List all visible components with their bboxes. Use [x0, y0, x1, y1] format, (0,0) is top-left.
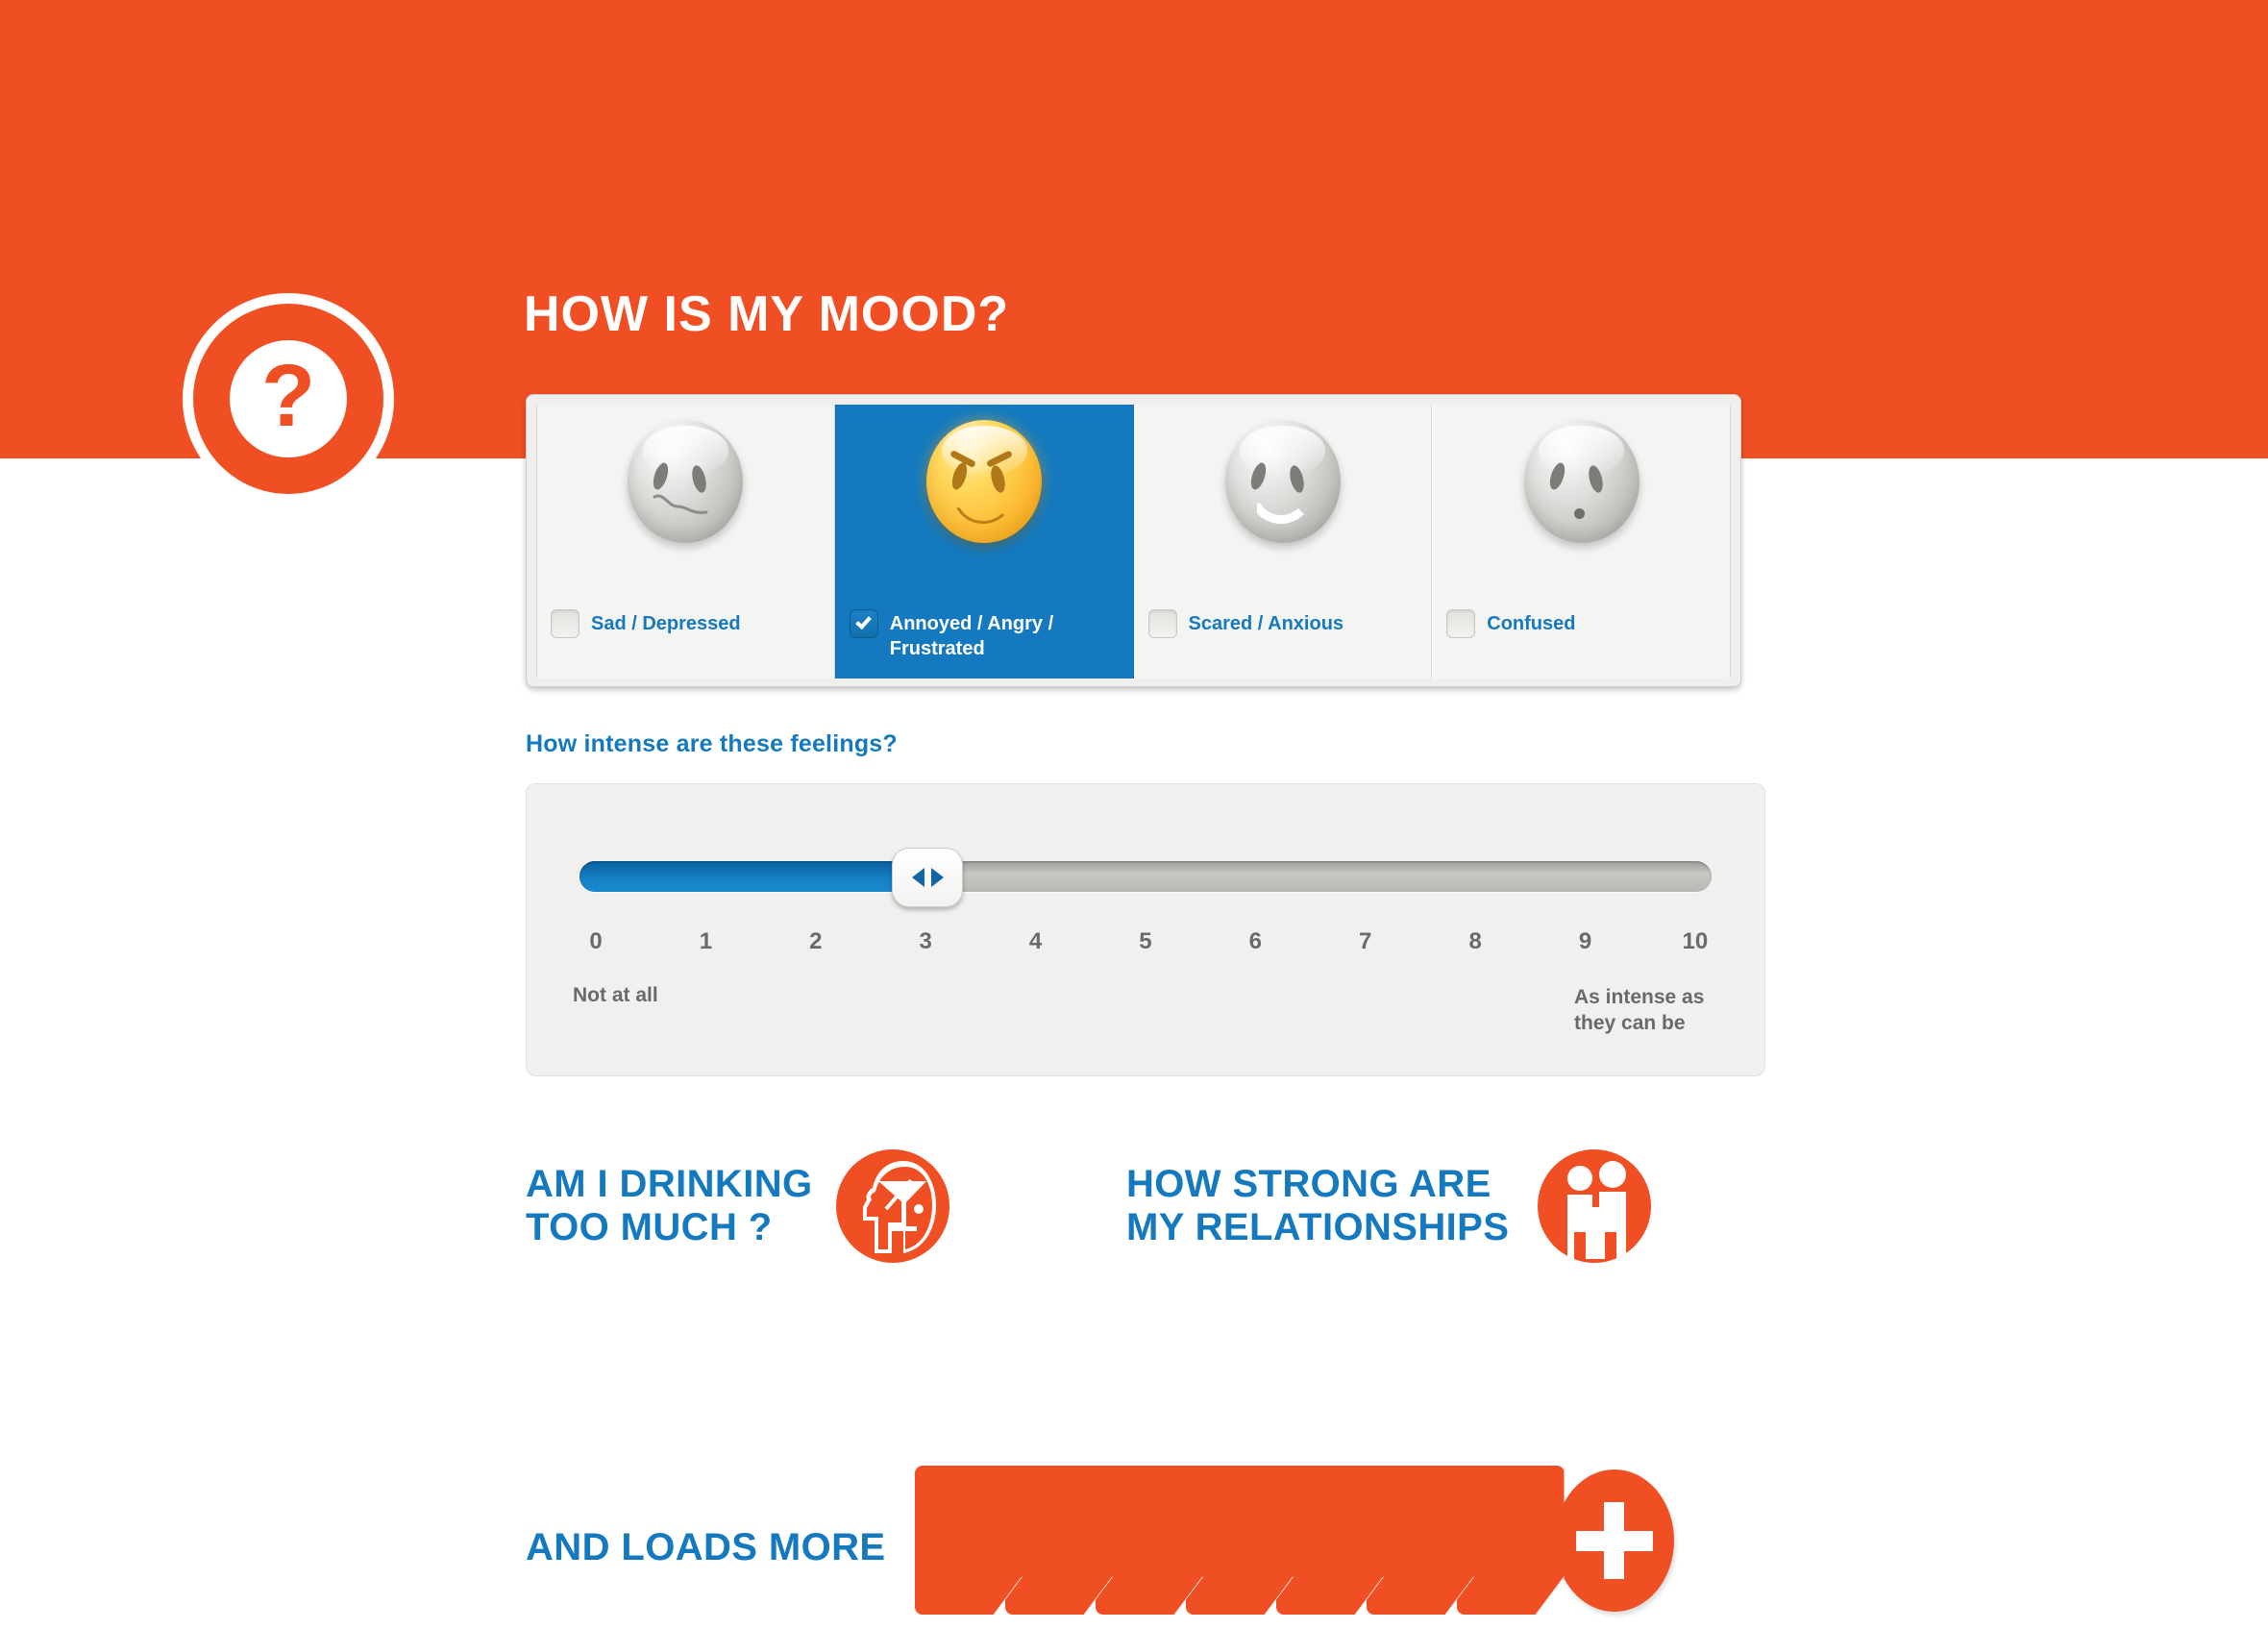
slider-tick-10: 10: [1679, 928, 1712, 955]
promo-relationships-line2: MY RELATIONSHIPS: [1126, 1206, 1509, 1249]
slider-tick-3: 3: [909, 928, 942, 955]
promo-relationships[interactable]: HOW STRONG ARE MY RELATIONSHIPS: [1126, 1149, 1651, 1263]
mood-label-scared: Scared / Anxious: [1189, 609, 1344, 637]
mood-card-angry[interactable]: Annoyed / Angry / Frustrated: [835, 405, 1134, 679]
mood-label-angry: Annoyed / Angry / Frustrated: [890, 609, 1125, 661]
slider-tick-2: 2: [800, 928, 832, 955]
mood-card-sad[interactable]: Sad / Depressed: [536, 405, 835, 679]
squiggle-mouth-icon: [653, 493, 712, 518]
sad-face-icon: [537, 420, 834, 543]
slider-handle[interactable]: [892, 848, 963, 907]
intensity-question: How intense are these feelings?: [526, 730, 898, 758]
confused-face-icon: [1433, 420, 1730, 543]
promo-relationships-line1: HOW STRONG ARE: [1126, 1163, 1509, 1206]
question-mark-glyph: ?: [261, 352, 315, 440]
mood-checkbox-angry[interactable]: [850, 609, 878, 638]
two-people-icon: [1538, 1149, 1651, 1263]
promo-drinking-line1: AM I DRINKING: [526, 1163, 813, 1206]
slider-tick-7: 7: [1349, 928, 1382, 955]
slider-tick-1: 1: [689, 928, 722, 955]
slider-tick-9: 9: [1569, 928, 1602, 955]
angry-face-icon: [836, 420, 1133, 543]
mood-selector: Sad / Depressed Annoyed / Angry / Frustr…: [526, 394, 1741, 687]
slider-tick-8: 8: [1459, 928, 1491, 955]
page-title: HOW IS MY MOOD?: [524, 285, 1009, 343]
scared-face-icon: [1135, 420, 1432, 543]
promo-relationships-text: HOW STRONG ARE MY RELATIONSHIPS: [1126, 1163, 1509, 1249]
slider-tick-6: 6: [1239, 928, 1271, 955]
slider-tick-5: 5: [1129, 928, 1162, 955]
intensity-slider[interactable]: [579, 861, 1712, 894]
arrow-left-icon: [912, 868, 924, 887]
loads-more-card-stack[interactable]: [915, 1466, 1674, 1629]
mood-checkbox-scared[interactable]: [1148, 609, 1177, 638]
loads-more-label: AND LOADS MORE: [526, 1526, 886, 1569]
card-fold-corner: [1536, 1576, 1565, 1615]
add-more-button[interactable]: [1555, 1469, 1674, 1612]
mood-checkbox-sad[interactable]: [551, 609, 579, 638]
arrow-right-icon: [931, 868, 944, 887]
mood-card-scared[interactable]: Scared / Anxious: [1134, 405, 1433, 679]
slider-anchor-high: As intense as they can be: [1574, 984, 1718, 1037]
mood-label-confused: Confused: [1487, 609, 1575, 637]
slider-tick-4: 4: [1020, 928, 1052, 955]
slider-filled-track: [579, 861, 927, 892]
loads-more-row: AND LOADS MORE: [526, 1466, 1674, 1629]
loads-more-card[interactable]: [915, 1466, 1023, 1615]
slider-tick-0: 0: [579, 928, 612, 955]
plus-icon-horizontal: [1576, 1531, 1653, 1551]
head-with-martini-icon: [836, 1149, 949, 1263]
promo-drinking-line2: TOO MUCH ?: [526, 1206, 813, 1249]
mood-checkbox-confused[interactable]: [1446, 609, 1475, 638]
question-mark-inner-circle: ?: [230, 340, 347, 457]
promo-drinking-text: AM I DRINKING TOO MUCH ?: [526, 1163, 813, 1249]
question-mark-icon: ?: [183, 293, 394, 505]
intensity-slider-panel: 012345678910 Not at all As intense as th…: [526, 783, 1765, 1076]
promo-drinking[interactable]: AM I DRINKING TOO MUCH ?: [526, 1149, 949, 1263]
slider-anchor-low: Not at all: [573, 984, 658, 1007]
mood-card-confused[interactable]: Confused: [1432, 405, 1731, 679]
mood-label-sad: Sad / Depressed: [591, 609, 741, 637]
slider-tick-labels: 012345678910: [579, 928, 1712, 955]
